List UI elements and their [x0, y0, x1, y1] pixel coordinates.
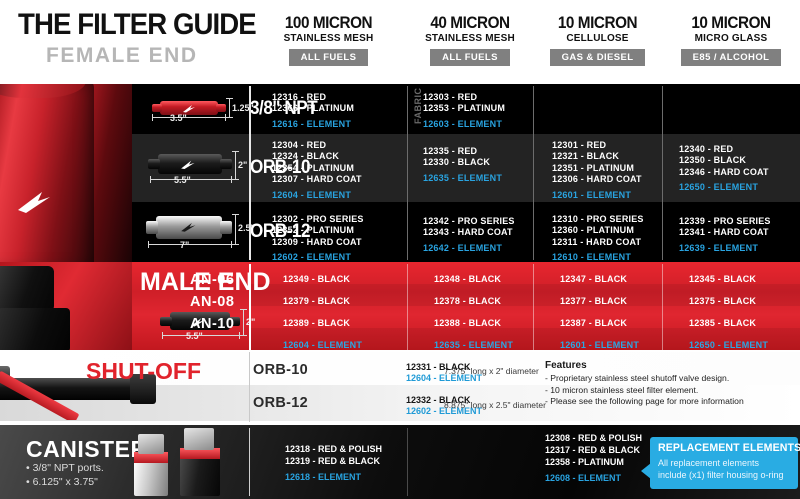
fuel-badge: ALL FUELS [289, 49, 369, 66]
page-header: THE FILTER GUIDE FEMALE END 100 MICRON S… [0, 0, 800, 84]
shut-off-features: Features - Proprietary stainless steel s… [545, 360, 744, 408]
canister-image-black [172, 426, 230, 496]
column-divider [249, 264, 251, 350]
cell-orb12-10micron-cellulose: 12310 - PRO SERIES 12360 - PLATINUM 1231… [552, 214, 644, 264]
cell-an08-40micron: 12378 - BLACK [434, 296, 501, 306]
features-title: Features [545, 360, 744, 371]
page-title: THE FILTER GUIDE [18, 8, 256, 42]
column-divider [249, 428, 250, 496]
aeromotive-logo-icon [182, 104, 198, 113]
cell-an08-10micron-microglass: 12375 - BLACK [689, 296, 756, 306]
aeromotive-logo-icon [180, 221, 199, 233]
column-divider [662, 86, 663, 260]
feature-item: - 10 micron stainless steel filter eleme… [545, 385, 744, 397]
column-divider [533, 264, 534, 350]
cell-orb10-10micron-microglass: 12340 - RED 12350 - BLACK 12346 - HARD C… [679, 144, 769, 194]
dimension-length: 5.5" [186, 331, 203, 341]
cell-orb12-40micron: 12342 - PRO SERIES 12343 - HARD COAT 126… [423, 216, 515, 254]
cell-an08-10micron-cellulose: 12377 - BLACK [560, 296, 627, 306]
cell-canister-right-1: 12308 - RED & POLISH [545, 433, 642, 445]
canister-bullet: • 3/8" NPT ports. [26, 462, 104, 474]
cell-canister-left-element: 12618 - ELEMENT [285, 472, 361, 484]
aeromotive-logo-icon [180, 159, 198, 170]
row-label-shutoff-orb12: ORB-12 [253, 395, 308, 411]
cell-element-10micron-cellulose: 12601 - ELEMENT [560, 340, 639, 350]
cell-an06-40micron: 12348 - BLACK [434, 274, 501, 284]
column-divider [407, 264, 408, 350]
replacement-elements-callout: REPLACEMENT ELEMENTS All replacement ele… [650, 437, 798, 489]
shutoff-orb10-dimension: 7.375" long x 2" diameter [444, 366, 539, 376]
table-row-npt: 3.5" 1.25" 3/8" NPT 12316 - RED 12366 - … [132, 84, 800, 134]
shut-off-title: SHUT-OFF [86, 358, 201, 385]
column-header-40-micron: 40 MICRON STAINLESS MESH ALL FUELS [407, 14, 533, 66]
canister-image-polish [126, 432, 176, 494]
column-divider [407, 428, 408, 496]
cell-element-100micron: 12604 - ELEMENT [283, 340, 362, 350]
table-row-orb10: 5.5" 2" ORB-10 12304 - RED 12324 - BLACK… [132, 134, 800, 202]
dimension-diameter: 2" [238, 160, 247, 170]
cell-canister-left-2: 12319 - RED & BLACK [285, 456, 380, 468]
fuel-badge: GAS & DIESEL [550, 49, 646, 66]
dimension-length: 5.5" [174, 175, 191, 185]
column-divider [533, 86, 534, 260]
female-end-subtitle: FEMALE END [46, 44, 198, 68]
cell-npt-100micron: 12316 - RED 12366 - PLATINUM 12616 - ELE… [272, 92, 354, 130]
cell-element-40micron: 12635 - ELEMENT [434, 340, 513, 350]
red-canister-illustration [0, 84, 94, 262]
cell-an10-10micron-cellulose: 12387 - BLACK [560, 318, 627, 328]
female-end-hero-image [0, 84, 132, 262]
canister-bullet: • 6.125" x 3.75" [26, 476, 98, 488]
cell-an10-40micron: 12388 - BLACK [434, 318, 501, 328]
fuel-badge: ALL FUELS [430, 49, 510, 66]
cell-orb10-10micron-cellulose: 12301 - RED 12321 - BLACK 12351 - PLATIN… [552, 140, 642, 201]
cell-element-10micron-microglass: 12650 - ELEMENT [689, 340, 768, 350]
feature-item: - Please see the following page for more… [545, 396, 744, 408]
column-header-10-micron-micro-glass: 10 MICRON MICRO GLASS E85 / ALCOHOL [662, 14, 800, 66]
cell-canister-right-3: 12358 - PLATINUM [545, 457, 624, 469]
orb10-thumbnail: 5.5" 2" [132, 134, 250, 202]
cell-an08-100micron: 12379 - BLACK [283, 296, 350, 306]
table-row-orb12: 7" 2.5" ORB-12 12302 - PRO SERIES 12352 … [132, 202, 800, 262]
callout-line: All replacement elements [658, 458, 759, 469]
fabric-label: FABRIC [413, 88, 423, 125]
column-header-100-micron: 100 MICRON STAINLESS MESH ALL FUELS [250, 14, 407, 66]
orb12-thumbnail: 7" 2.5" [132, 202, 250, 262]
cell-orb12-100micron: 12302 - PRO SERIES 12352 - PLATINUM 1230… [272, 214, 364, 264]
cell-an10-100micron: 12389 - BLACK [283, 318, 350, 328]
cell-canister-right-element: 12608 - ELEMENT [545, 473, 621, 485]
npt-thumbnail: 3.5" 1.25" [132, 84, 250, 134]
cell-an10-10micron-microglass: 12385 - BLACK [689, 318, 756, 328]
callout-title: REPLACEMENT ELEMENTS [658, 442, 800, 454]
fuel-badge: E85 / ALCOHOL [681, 49, 782, 66]
cell-npt-40micron: 12303 - RED 12353 - PLATINUM 12603 - ELE… [423, 92, 505, 130]
row-label-shutoff-orb10: ORB-10 [253, 362, 308, 378]
cell-an06-100micron: 12349 - BLACK [283, 274, 350, 284]
column-divider [249, 352, 250, 422]
column-header-10-micron-cellulose: 10 MICRON CELLULOSE GAS & DIESEL [533, 14, 662, 66]
column-divider [662, 264, 663, 350]
dimension-length: 7" [180, 240, 189, 250]
filter-guide-page: THE FILTER GUIDE FEMALE END 100 MICRON S… [0, 0, 800, 499]
column-divider [407, 86, 408, 260]
aeromotive-logo-icon [16, 188, 60, 214]
cell-orb10-40micron: 12335 - RED 12330 - BLACK 12635 - ELEMEN… [423, 146, 502, 184]
feature-item: - Proprietary stainless steel shutoff va… [545, 373, 744, 385]
male-end-hero-image [0, 262, 132, 350]
callout-line: include (x1) filter housing o-ring [658, 470, 784, 481]
cell-canister-right-2: 12317 - RED & BLACK [545, 445, 640, 457]
shutoff-orb12-dimension: 8.875" long x 2.5" diameter [444, 400, 546, 410]
cell-an06-10micron-cellulose: 12347 - BLACK [560, 274, 627, 284]
cell-orb12-10micron-microglass: 12339 - PRO SERIES 12341 - HARD COAT 126… [679, 216, 771, 254]
cell-canister-left-1: 12318 - RED & POLISH [285, 444, 382, 456]
cell-an06-10micron-microglass: 12345 - BLACK [689, 274, 756, 284]
dimension-length: 3.5" [170, 113, 187, 123]
column-divider [249, 86, 251, 260]
